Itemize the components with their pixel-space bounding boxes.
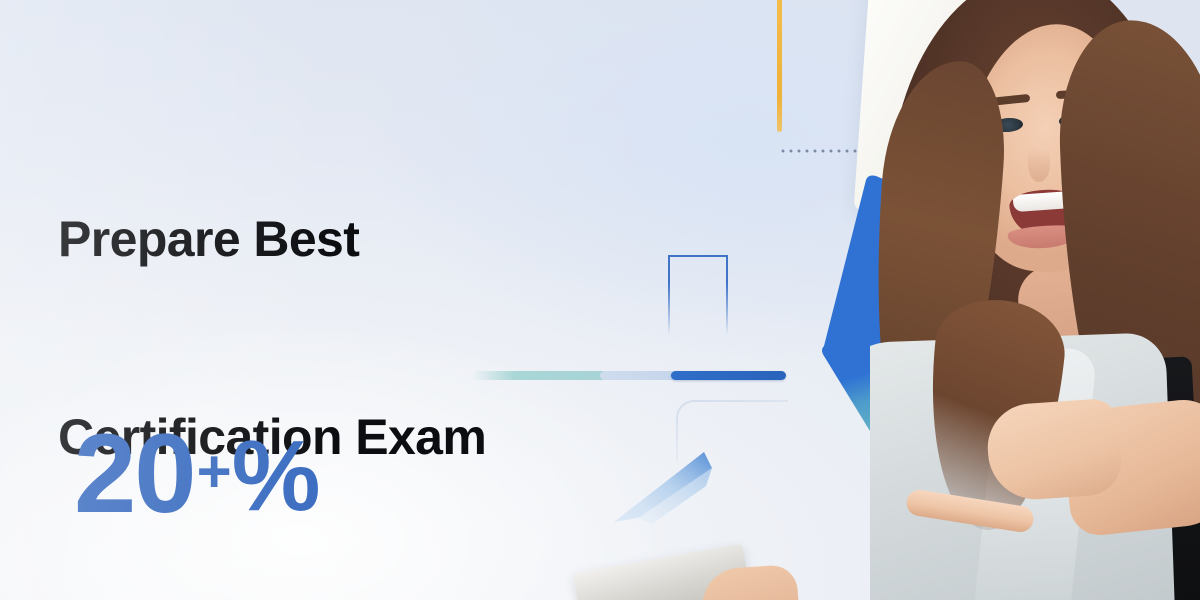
pointing-hand	[985, 398, 1123, 503]
orange-vertical-line-icon	[777, 0, 782, 132]
discount-stat: 20 + %	[74, 418, 319, 530]
stat-number: 20	[74, 418, 195, 530]
headline-line-1: Prepare Best	[58, 206, 678, 272]
promo-banner: Prepare Best Certification Exam PDF Ques…	[0, 0, 1200, 600]
presenter-photo	[870, 0, 1200, 600]
nose	[1028, 148, 1050, 182]
progress-segment-solid	[671, 371, 786, 380]
stat-percent-sign: %	[232, 426, 319, 526]
stat-plus-sign: +	[197, 442, 231, 502]
